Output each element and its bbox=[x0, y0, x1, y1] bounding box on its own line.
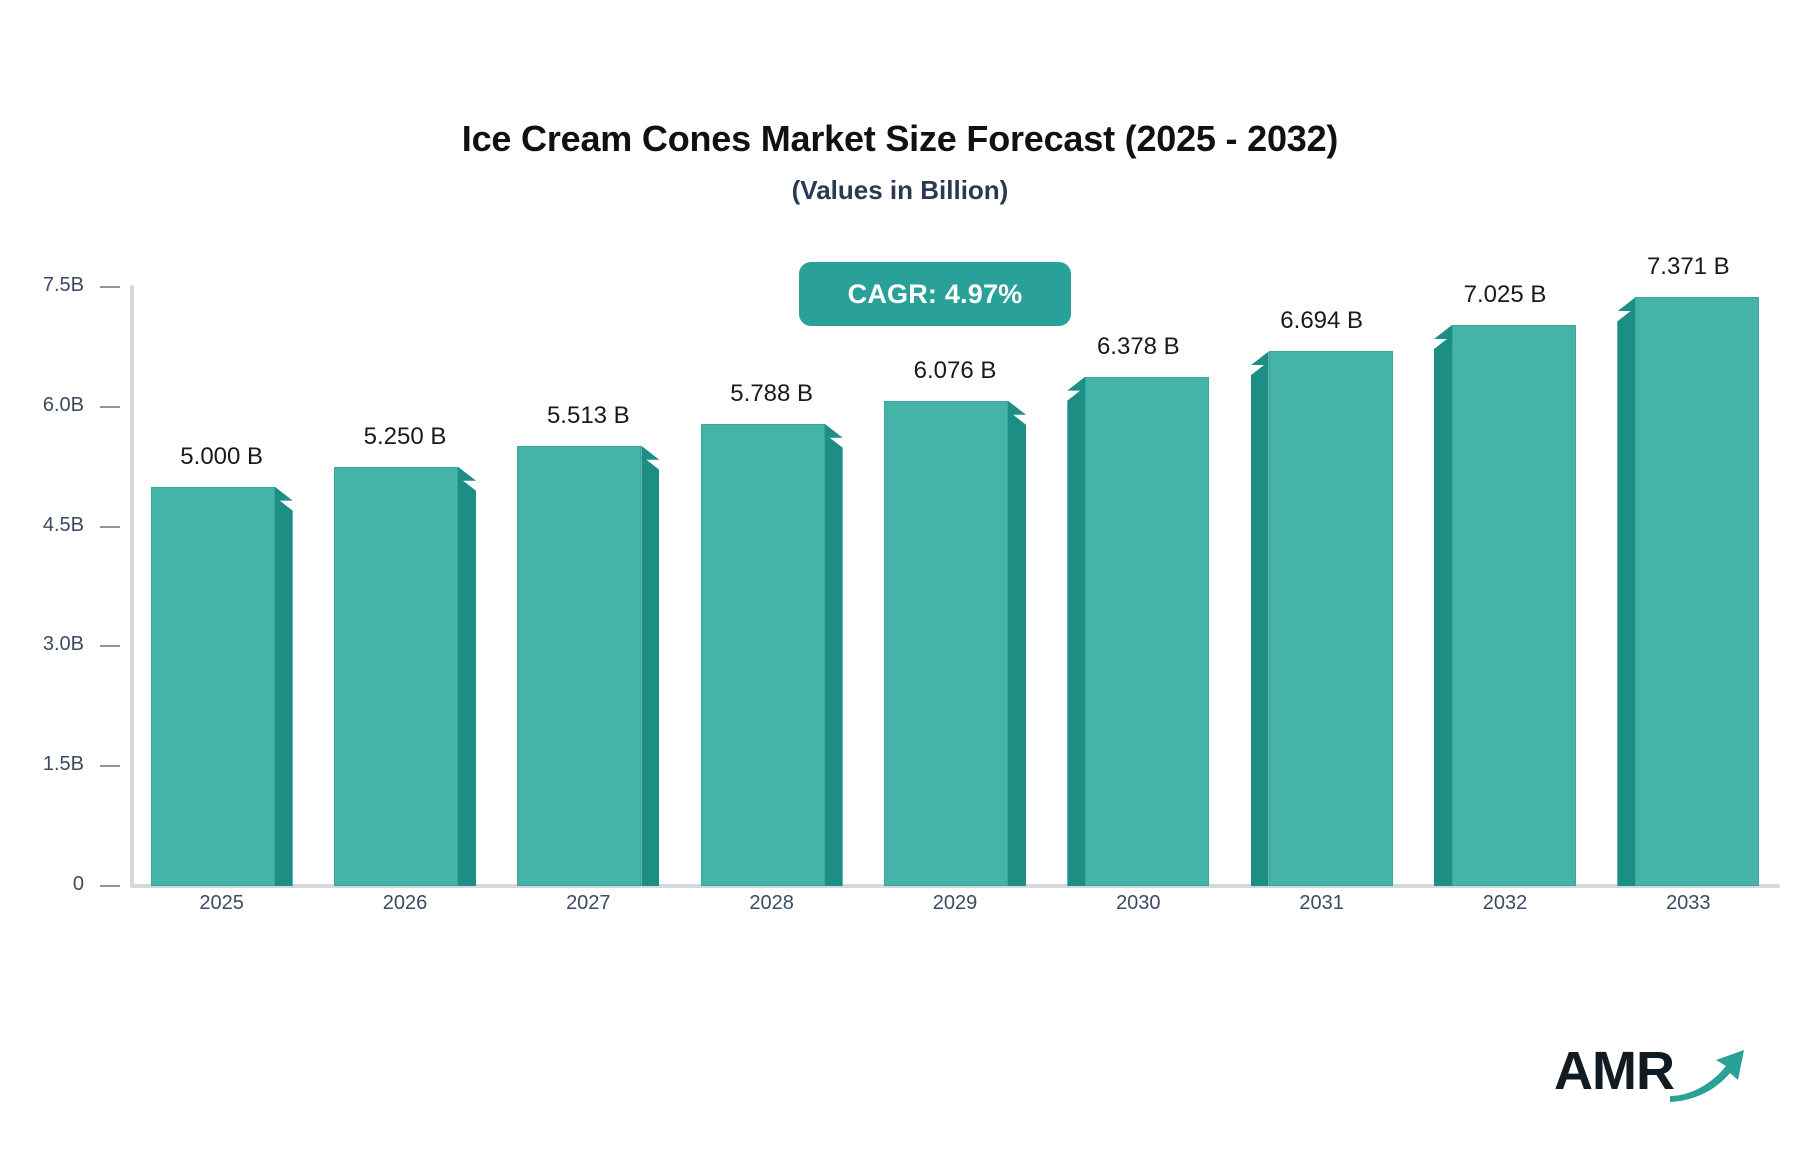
y-axis-tick-label: 7.5B bbox=[43, 274, 84, 297]
bar-group[interactable]: 7.371 B2033 bbox=[1597, 270, 1780, 886]
x-axis-tick-label: 2025 bbox=[130, 892, 313, 915]
bar-3d-body: 6.378 B bbox=[1047, 270, 1230, 886]
bar-value-label: 7.371 B bbox=[1597, 253, 1780, 281]
bar-side-face bbox=[825, 434, 843, 886]
bar-front-face bbox=[1452, 325, 1576, 886]
bar-value-label: 5.000 B bbox=[130, 443, 313, 471]
y-axis-tick-mark bbox=[100, 406, 120, 408]
bar-group[interactable]: 6.694 B2031 bbox=[1230, 270, 1413, 886]
bar-top-face bbox=[1251, 351, 1269, 365]
bar-top-face bbox=[641, 446, 659, 460]
bar-value-label: 6.694 B bbox=[1230, 307, 1413, 335]
bar-top-face bbox=[1434, 325, 1452, 339]
y-axis-tick-label: 3.0B bbox=[43, 633, 84, 656]
bar-front-face bbox=[151, 487, 275, 886]
bar-3d-body: 5.788 B bbox=[680, 270, 863, 886]
bar-3d-body: 6.694 B bbox=[1230, 270, 1413, 886]
bar-group[interactable]: 5.788 B2028 bbox=[680, 270, 863, 886]
y-axis-tick-mark bbox=[100, 286, 120, 288]
bar-top-face bbox=[825, 424, 843, 438]
bar-side-face bbox=[1067, 387, 1085, 886]
bar-group[interactable]: 7.025 B2032 bbox=[1413, 270, 1596, 886]
y-axis-tick-label: 1.5B bbox=[43, 753, 84, 776]
x-axis-tick-label: 2030 bbox=[1047, 892, 1230, 915]
chart-title: Ice Cream Cones Market Size Forecast (20… bbox=[0, 118, 1800, 160]
bar-front-face bbox=[334, 467, 458, 886]
bar-side-face bbox=[1434, 335, 1452, 886]
y-axis-tick-mark bbox=[100, 765, 120, 767]
x-axis-tick-label: 2031 bbox=[1230, 892, 1413, 915]
bar-3d-body: 5.513 B bbox=[497, 270, 680, 886]
bar-top-face bbox=[458, 467, 476, 481]
bar-value-label: 6.378 B bbox=[1047, 333, 1230, 361]
chart-subtitle: (Values in Billion) bbox=[0, 175, 1800, 206]
bar-side-face bbox=[1251, 361, 1269, 886]
bar-value-label: 5.513 B bbox=[497, 402, 680, 430]
bar-side-face bbox=[275, 497, 293, 886]
bar-top-face bbox=[1617, 297, 1635, 311]
bar-value-label: 6.076 B bbox=[863, 357, 1046, 385]
bar-group[interactable]: 6.076 B2029 bbox=[863, 270, 1046, 886]
bar-series: 5.000 B20255.250 B20265.513 B20275.788 B… bbox=[130, 270, 1780, 886]
bar-side-face bbox=[1008, 411, 1026, 886]
bar-top-face bbox=[275, 487, 293, 501]
bar-group[interactable]: 6.378 B2030 bbox=[1047, 270, 1230, 886]
bar-3d-body: 7.371 B bbox=[1597, 270, 1780, 886]
bar-3d-body: 7.025 B bbox=[1413, 270, 1596, 886]
bar-front-face bbox=[884, 401, 1008, 886]
y-axis-tick-label: 4.5B bbox=[43, 514, 84, 537]
bar-front-face bbox=[701, 424, 825, 886]
bar-side-face bbox=[641, 456, 659, 886]
bar-value-label: 7.025 B bbox=[1413, 281, 1596, 309]
bar-front-face bbox=[1269, 351, 1393, 886]
bar-front-face bbox=[517, 446, 641, 886]
bar-group[interactable]: 5.250 B2026 bbox=[313, 270, 496, 886]
growth-arrow-icon bbox=[1668, 1046, 1748, 1102]
x-axis-tick-label: 2033 bbox=[1597, 892, 1780, 915]
bar-3d-body: 5.000 B bbox=[130, 270, 313, 886]
y-axis-tick-label: 6.0B bbox=[43, 394, 84, 417]
y-axis-tick-mark bbox=[100, 885, 120, 887]
bar-group[interactable]: 5.000 B2025 bbox=[130, 270, 313, 886]
x-axis-tick-label: 2029 bbox=[863, 892, 1046, 915]
x-axis-tick-label: 2032 bbox=[1413, 892, 1596, 915]
x-axis-tick-label: 2028 bbox=[680, 892, 863, 915]
x-axis-tick-label: 2027 bbox=[497, 892, 680, 915]
bar-3d-body: 5.250 B bbox=[313, 270, 496, 886]
bar-top-face bbox=[1008, 401, 1026, 415]
y-axis-tick-label: 0 bbox=[73, 873, 84, 896]
bar-side-face bbox=[1617, 307, 1635, 886]
y-axis-tick-mark bbox=[100, 526, 120, 528]
amr-logo-text: AMR bbox=[1554, 1040, 1674, 1102]
bar-3d-body: 6.076 B bbox=[863, 270, 1046, 886]
amr-logo: AMR bbox=[1554, 1034, 1744, 1108]
bar-value-label: 5.788 B bbox=[680, 380, 863, 408]
y-axis-tick-mark bbox=[100, 645, 120, 647]
bar-value-label: 5.250 B bbox=[313, 423, 496, 451]
bar-front-face bbox=[1085, 377, 1209, 886]
bar-front-face bbox=[1635, 297, 1759, 886]
bar-top-face bbox=[1067, 377, 1085, 391]
bar-group[interactable]: 5.513 B2027 bbox=[497, 270, 680, 886]
bar-side-face bbox=[458, 477, 476, 886]
x-axis-tick-label: 2026 bbox=[313, 892, 496, 915]
chart-card: Ice Cream Cones Market Size Forecast (20… bbox=[0, 0, 1800, 1156]
